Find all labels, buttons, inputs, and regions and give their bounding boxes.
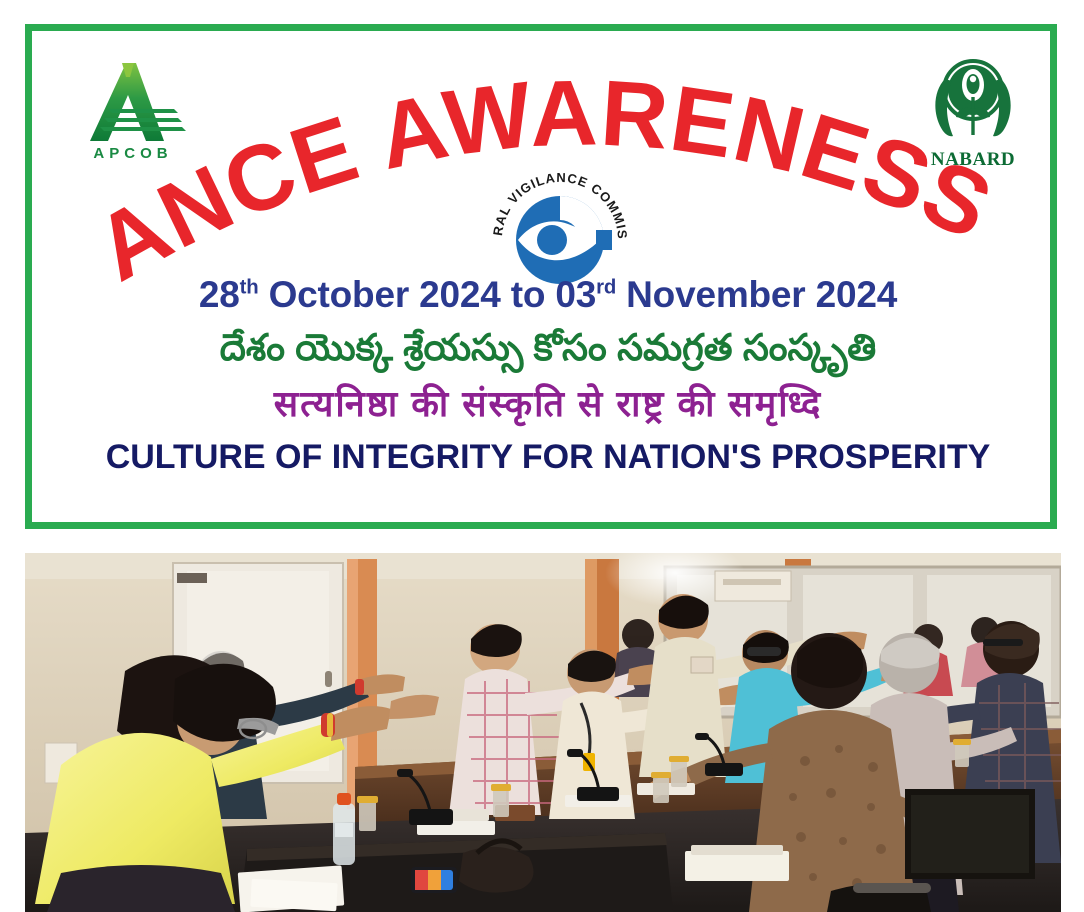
nabard-logo-label: NABARD [914, 149, 1032, 171]
telugu-slogan: దేశం యొక్క శ్రేయస్సు కోసం సమగ్రత సంస్కృత… [39, 325, 1057, 371]
date-connector: to [511, 274, 546, 315]
date-day-start-suffix: th [240, 277, 259, 299]
english-slogan: CULTURE OF INTEGRITY FOR NATION'S PROSPE… [39, 438, 1057, 477]
event-date-line: 28th October 2024 to 03rd November 2024 [39, 274, 1057, 317]
banner-text-block: 28th October 2024 to 03rd November 2024 … [39, 274, 1057, 477]
banner-green-frame: APCOB NABARD [25, 24, 1057, 529]
date-day-end: 03 [555, 274, 596, 315]
photo-scene [25, 553, 1061, 912]
water-bottle [333, 793, 355, 865]
date-day-start: 28 [199, 274, 240, 315]
apcob-logo: APCOB [68, 61, 198, 181]
nabard-sprout-hands-icon [923, 57, 1023, 149]
nabard-logo: NABARD [914, 57, 1032, 179]
apcob-logo-label: APCOB [68, 145, 198, 162]
vigilance-awareness-week-banner: APCOB NABARD [0, 0, 1084, 545]
apcob-a-mark-icon [78, 61, 190, 143]
hindi-slogan: सत्यनिष्ठा की संस्कृति से राष्ट्र की समृ… [39, 381, 1057, 426]
date-month-end: November 2024 [626, 274, 897, 315]
pledge-ceremony-photo [25, 553, 1061, 912]
date-day-end-suffix: rd [596, 277, 616, 299]
date-month-start: October 2024 [269, 274, 501, 315]
